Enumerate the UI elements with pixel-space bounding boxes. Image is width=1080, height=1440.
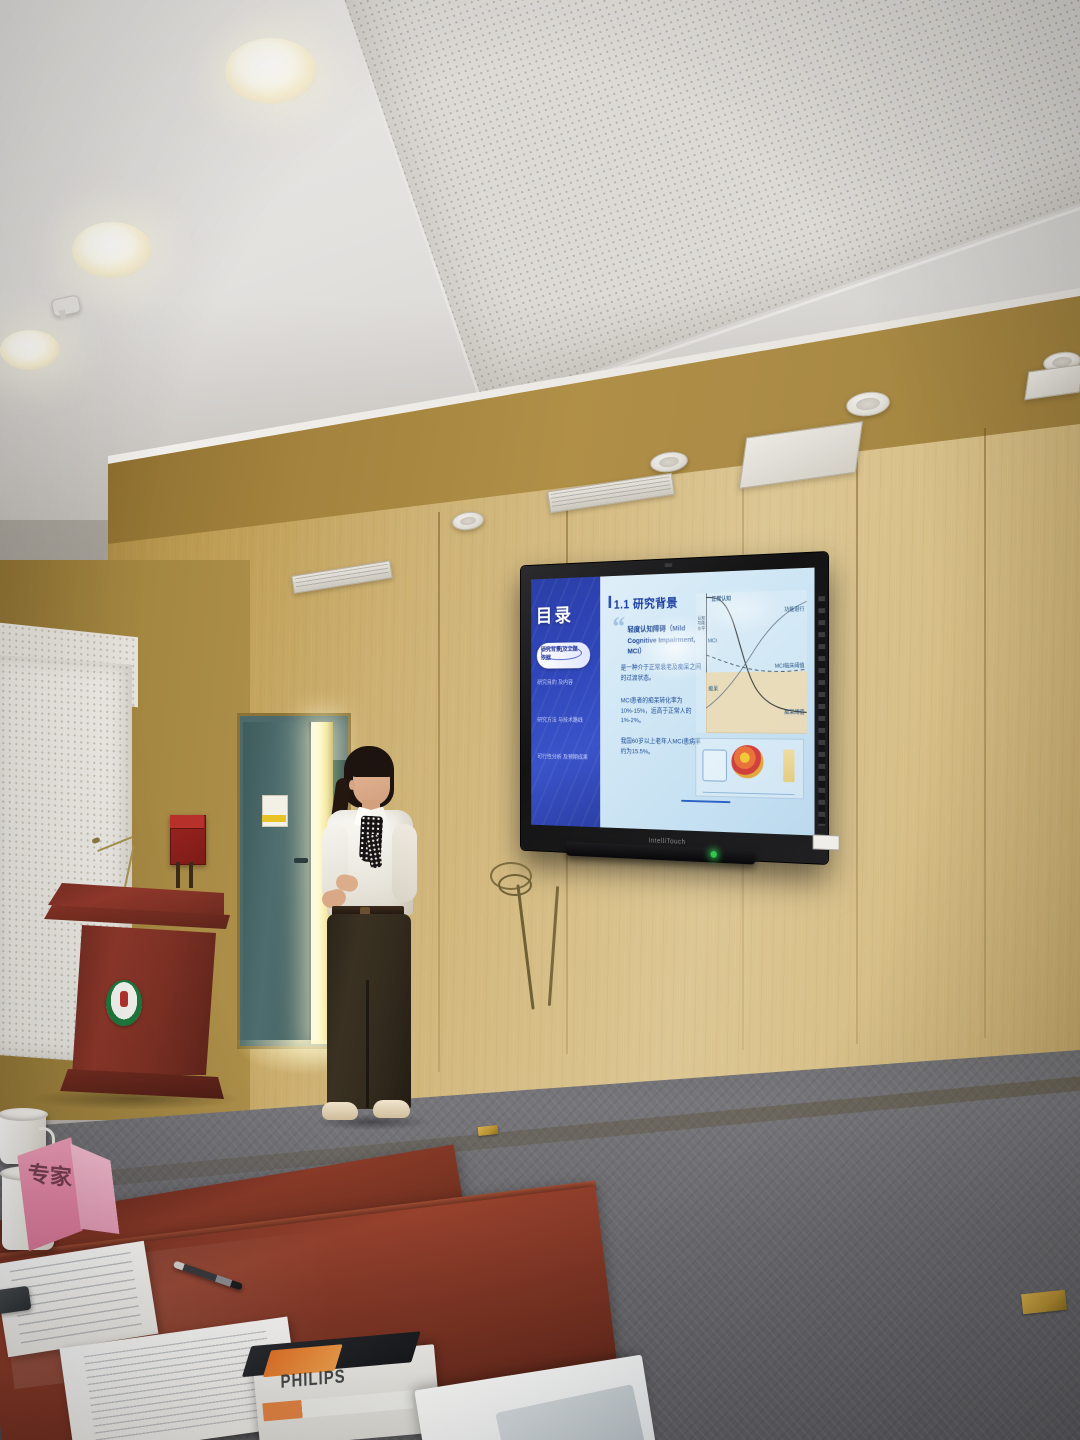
sidebar-item-3[interactable]: 可行性分析 及预期成果 bbox=[537, 754, 592, 763]
wall-seam bbox=[984, 428, 986, 1038]
slide-paragraph-1: 是一种介于正常衰老及痴呆之间的过渡状态。 bbox=[621, 663, 703, 684]
handout-text-lines bbox=[84, 1331, 278, 1440]
downlight-icon bbox=[225, 38, 317, 104]
sidebar-item-active[interactable]: 研究背景 及立题依据 1 bbox=[537, 642, 591, 669]
slide-heading: 1.1 研究背景 bbox=[614, 593, 678, 613]
product-box[interactable]: PHILIPS bbox=[253, 1344, 442, 1440]
display-asset-tag bbox=[813, 834, 840, 850]
presenter-shoe-right bbox=[373, 1100, 410, 1118]
name-card-label: 专家 bbox=[28, 1162, 72, 1190]
downlight-icon bbox=[72, 222, 152, 278]
wall-seam bbox=[856, 444, 858, 1044]
display-camera-icon bbox=[664, 563, 672, 567]
mug-rim bbox=[0, 1108, 48, 1121]
cognitive-decline-chart: 认知功能水平 正常认知 MCI 痴呆 功能退行 MCI临床阈值 痴呆阈值 bbox=[697, 589, 807, 733]
hospital-emblem-icon bbox=[106, 980, 142, 1026]
presenter-bangs bbox=[350, 755, 394, 777]
slide-paragraph-2: MCI患者的痴呆转化率为10%-15%，远高于正常人的1%-2%。 bbox=[621, 697, 703, 727]
smartphone[interactable] bbox=[0, 1286, 32, 1314]
interactive-flat-panel-display[interactable]: 目录 研究背景 及立题依据 1 研究目的 及内容 研究方法 与技术路线 可行性分… bbox=[521, 552, 828, 864]
slide-heading-accent-bar bbox=[609, 596, 611, 608]
slide-accent-underline bbox=[681, 800, 730, 804]
chart-annotation-mci: MCI bbox=[708, 639, 717, 645]
quote-mark-icon: “ bbox=[612, 617, 625, 637]
presentation-slide: 目录 研究背景 及立题依据 1 研究目的 及内容 研究方法 与技术路线 可行性分… bbox=[531, 568, 814, 836]
lectern bbox=[38, 883, 230, 1101]
door-notice-sign-highlight bbox=[262, 815, 286, 822]
door-notice-sign bbox=[262, 795, 288, 827]
power-led-icon bbox=[711, 851, 717, 858]
fire-alarm-panel-top bbox=[170, 815, 204, 829]
slide-paragraph-3: 我国60岁以上老年人MCI患病率约为15.5%。 bbox=[621, 737, 703, 758]
presenter-ear bbox=[349, 780, 355, 790]
sidebar-item-1[interactable]: 研究目的 及内容 bbox=[537, 679, 592, 688]
chart-annotation-normal: 正常认知 bbox=[712, 595, 732, 603]
chart-annotation-mci-threshold: MCI临床阈值 bbox=[775, 661, 805, 669]
presenter-trouser-seam bbox=[366, 980, 369, 1108]
presenter-trousers bbox=[327, 914, 411, 1109]
diagram-right-bar bbox=[783, 749, 794, 782]
brain-network-diagram bbox=[695, 738, 804, 800]
slide-sidebar: 目录 研究背景 及立题依据 1 研究目的 及内容 研究方法 与技术路线 可行性分… bbox=[531, 577, 600, 828]
slide-sidebar-title: 目录 bbox=[536, 600, 573, 628]
name-card-tent: 专家 bbox=[16, 1133, 120, 1251]
diagram-left-panel bbox=[702, 749, 727, 781]
slide-lead-text: 轻度认知障碍（Mild Cognitive Impairment, MCI） bbox=[628, 623, 707, 657]
sidebar-item-2[interactable]: 研究方法 与技术路线 bbox=[537, 717, 592, 726]
chart-annotation-dementia: 痴呆 bbox=[708, 685, 718, 693]
display-side-ports bbox=[818, 596, 825, 826]
conference-room-photo: 目录 研究背景 及立题依据 1 研究目的 及内容 研究方法 与技术路线 可行性分… bbox=[0, 0, 1080, 1440]
display-screen[interactable]: 目录 研究背景 及立题依据 1 研究目的 及内容 研究方法 与技术路线 可行性分… bbox=[531, 568, 814, 836]
presenter-shoe-left bbox=[322, 1102, 358, 1120]
diagram-caption-rule bbox=[702, 792, 794, 795]
presenter bbox=[300, 742, 440, 1142]
downlight-icon bbox=[0, 330, 60, 370]
chart-y-axis-label: 认知功能水平 bbox=[697, 615, 706, 631]
display-cable-loop bbox=[498, 874, 532, 896]
chart-annotation-dementia-threshold: 痴呆阈值 bbox=[784, 708, 804, 716]
presenter-arm-right bbox=[392, 824, 417, 902]
chart-annotation-decline: 功能退行 bbox=[784, 605, 804, 614]
brain-network-blob-icon bbox=[732, 745, 764, 779]
